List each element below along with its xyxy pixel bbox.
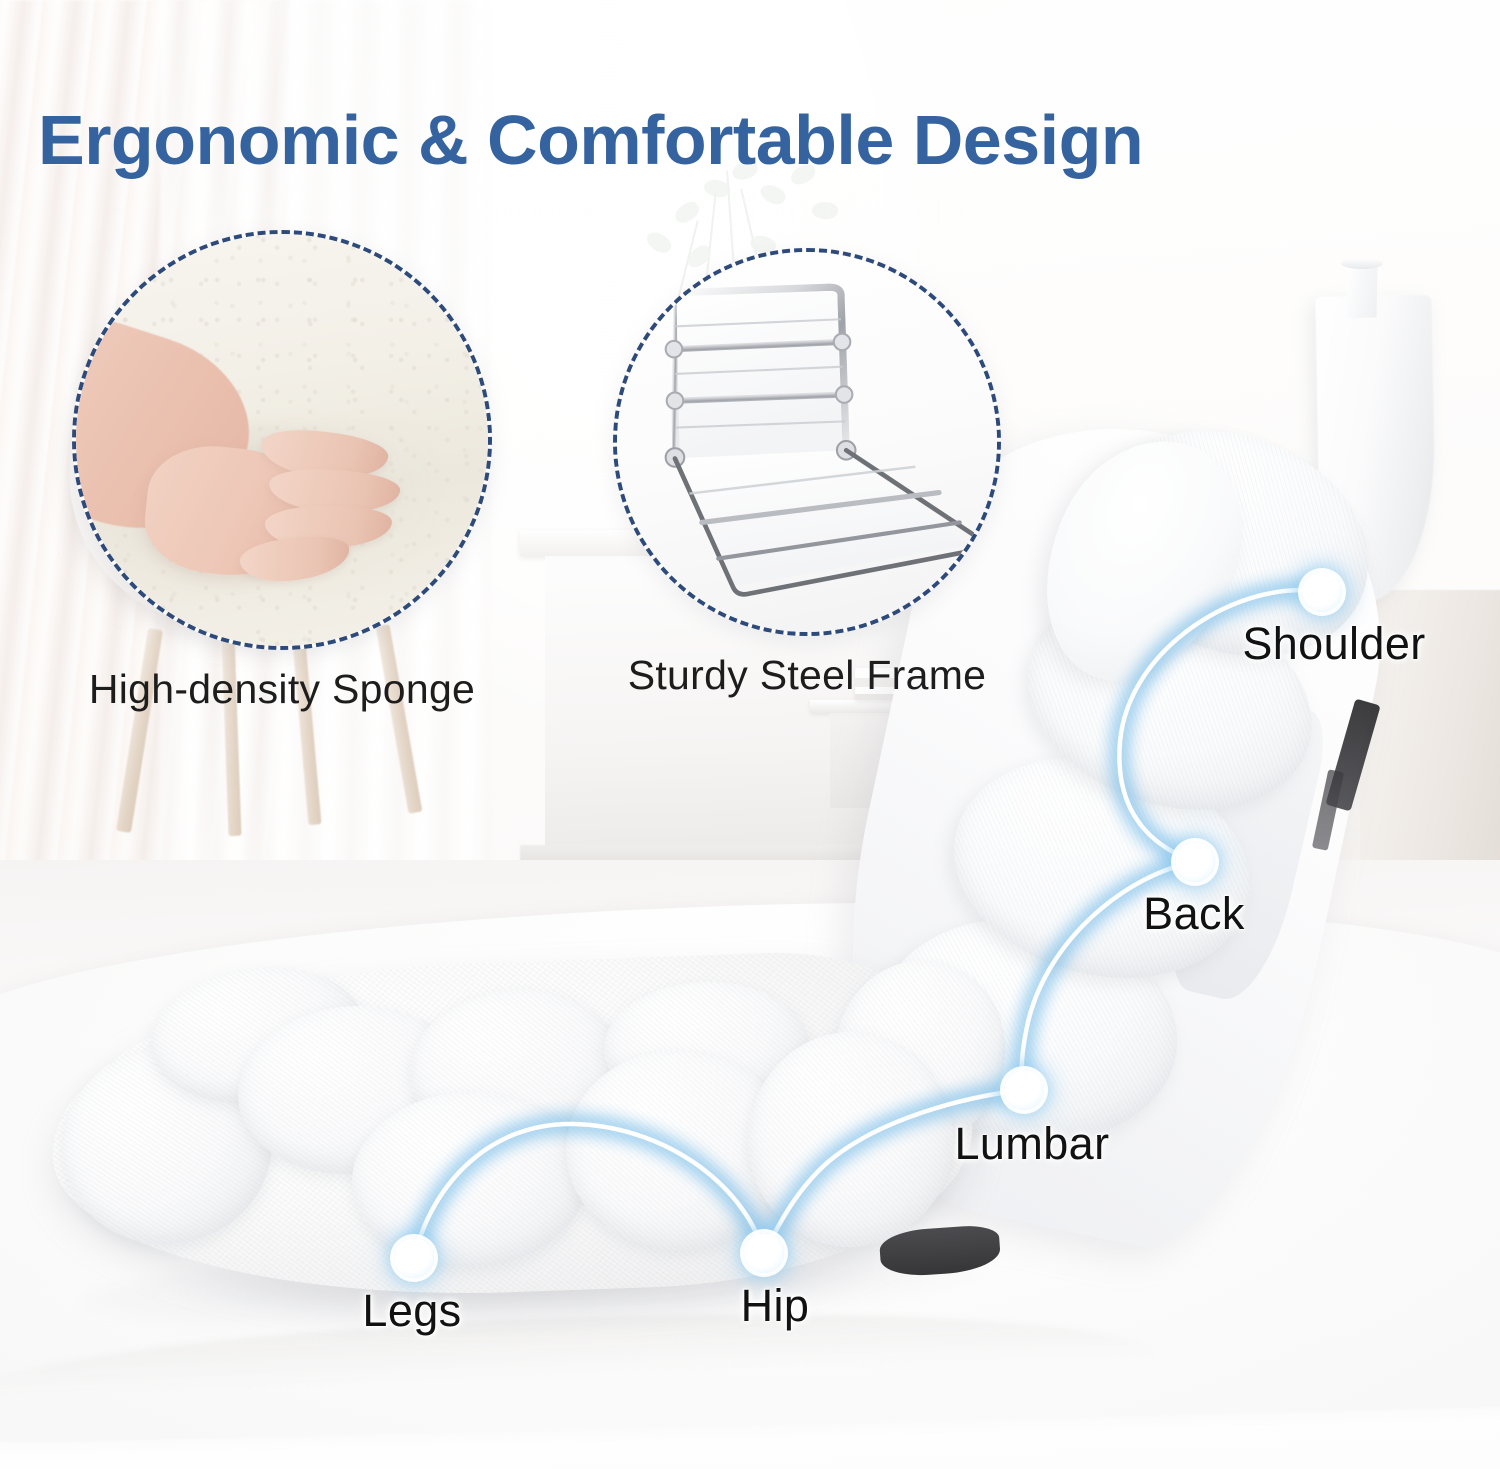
- product-feature-poster: Ergonomic & Comfortable Design High-dens…: [0, 0, 1500, 1469]
- body-point-dot-legs: [394, 1238, 434, 1278]
- body-point-label-back: Back: [1143, 888, 1245, 940]
- body-point-label-shoulder: Shoulder: [1242, 618, 1425, 670]
- body-point-dot-hip: [744, 1233, 784, 1273]
- ergonomic-points-overlay: Shoulder Back Lumbar Hip Legs: [0, 0, 1500, 1469]
- body-point-dot-back: [1175, 842, 1215, 882]
- body-point-dot-shoulder: [1302, 572, 1342, 612]
- body-point-label-hip: Hip: [741, 1280, 810, 1332]
- body-point-dot-lumbar: [1004, 1070, 1044, 1110]
- body-point-label-legs: Legs: [362, 1285, 461, 1337]
- body-point-label-lumbar: Lumbar: [955, 1118, 1110, 1170]
